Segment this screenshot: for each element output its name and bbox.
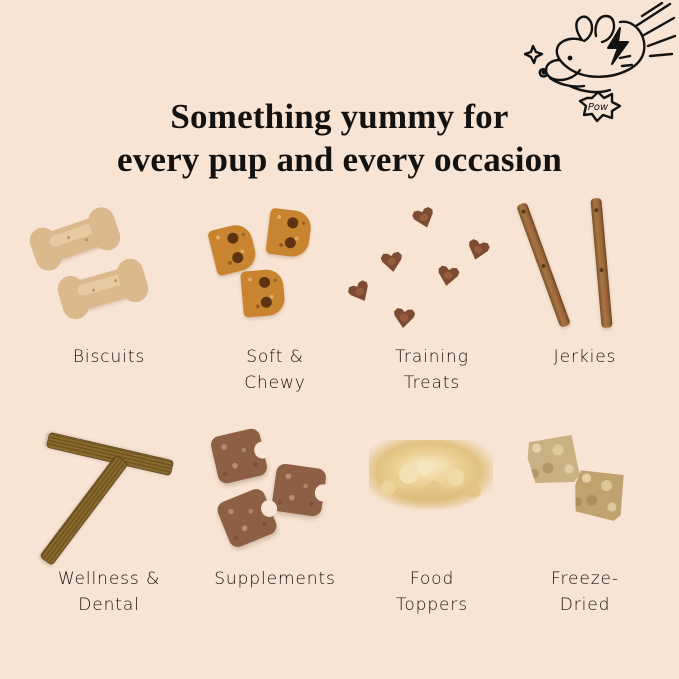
category-label: Jerkies xyxy=(500,344,670,370)
category-item-wellness-dental[interactable]: Wellness & Dental xyxy=(24,418,194,638)
supplement-chews-art xyxy=(190,418,360,558)
category-item-freeze-dried[interactable]: Freeze- Dried xyxy=(500,418,670,638)
category-label: Freeze- Dried xyxy=(500,566,670,618)
category-item-supplements[interactable]: Supplements xyxy=(190,418,360,638)
pow-burst-text: Pow xyxy=(588,102,609,113)
category-item-jerkies[interactable]: Jerkies xyxy=(500,196,670,416)
headline-line-2: every pup and every occasion xyxy=(0,138,679,181)
promo-page: Something yummy for every pup and every … xyxy=(0,0,679,679)
category-label: Biscuits xyxy=(24,344,194,370)
b-shaped-chewy-treats-art xyxy=(190,196,360,336)
category-label: Training Treats xyxy=(347,344,517,396)
category-item-biscuits[interactable]: Biscuits xyxy=(24,196,194,416)
category-label: Soft & Chewy xyxy=(190,344,360,396)
powder-pile-art xyxy=(347,418,517,558)
freeze-dried-chunks-art xyxy=(500,418,670,558)
jerky-sticks-art xyxy=(500,196,670,336)
category-item-food-toppers[interactable]: Food Toppers xyxy=(347,418,517,638)
category-label: Food Toppers xyxy=(347,566,517,618)
category-label: Supplements xyxy=(190,566,360,592)
bone-biscuits-art xyxy=(24,196,194,336)
category-item-training-treats[interactable]: Training Treats xyxy=(347,196,517,416)
category-label: Wellness & Dental xyxy=(24,566,194,618)
ridged-dental-sticks-art xyxy=(24,418,194,558)
heart-morsels-art xyxy=(347,196,517,336)
dog-head-doodle: Pow xyxy=(524,2,676,124)
category-grid: Biscuits Soft & Chewy xyxy=(0,196,679,656)
category-row: Biscuits Soft & Chewy xyxy=(0,196,679,416)
category-row: Wellness & Dental Supplements Food T xyxy=(0,418,679,638)
category-item-soft-chewy[interactable]: Soft & Chewy xyxy=(190,196,360,416)
